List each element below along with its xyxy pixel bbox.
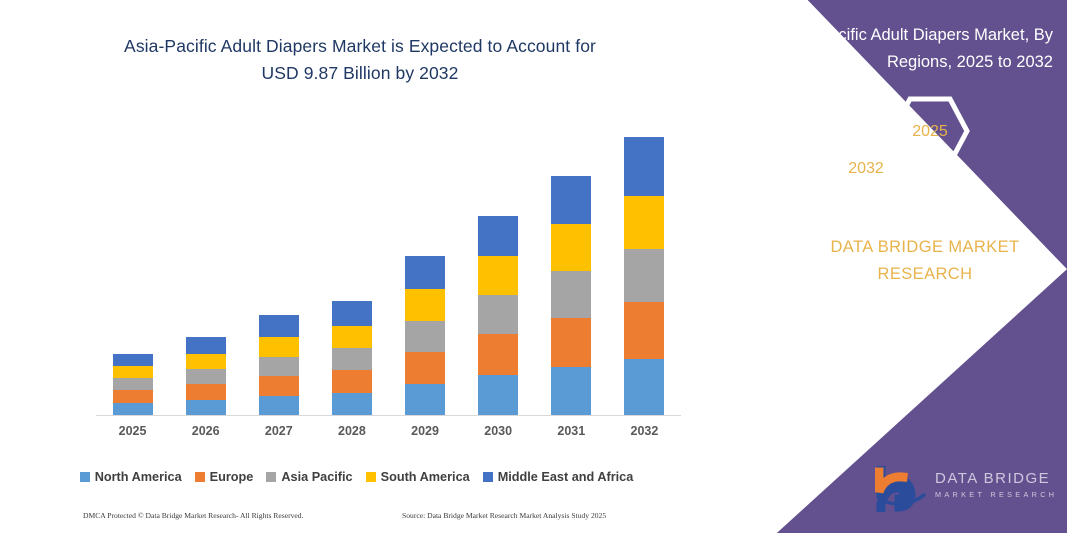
infographic-canvas: Asia-Pacific Adult Diapers Market is Exp…	[0, 0, 1067, 533]
legend-item-europe[interactable]: Europe	[195, 470, 254, 484]
x-axis-labels: 20252026202720282029203020312032	[96, 424, 681, 444]
x-label-2030: 2030	[463, 424, 533, 438]
legend-label: Asia Pacific	[281, 470, 352, 484]
brand-line1: DATA BRIDGE MARKET	[830, 238, 1019, 256]
x-label-2026: 2026	[171, 424, 241, 438]
logo-main-text: DATA BRIDGE	[935, 470, 1057, 487]
bar-segment-south-america[interactable]	[186, 354, 226, 369]
legend-item-south-america[interactable]: South America	[366, 470, 470, 484]
brand-name: DATA BRIDGE MARKET RESEARCH	[790, 234, 1060, 288]
bar-segment-south-america[interactable]	[551, 224, 591, 271]
panel-title-line2: Regions, 2025 to 2032	[887, 53, 1053, 71]
plot-area	[96, 110, 681, 416]
x-label-2029: 2029	[390, 424, 460, 438]
bar-segment-south-america[interactable]	[478, 256, 518, 295]
logo-text: DATA BRIDGE MARKET RESEARCH	[935, 470, 1057, 499]
bar-2026[interactable]	[186, 337, 226, 416]
legend-swatch-icon	[80, 472, 90, 482]
bar-segment-north-america[interactable]	[551, 367, 591, 416]
bar-segment-middle-east-and-africa[interactable]	[551, 176, 591, 224]
bar-segment-asia-pacific[interactable]	[332, 348, 372, 370]
bar-segment-europe[interactable]	[405, 352, 445, 384]
bar-2030[interactable]	[478, 216, 518, 416]
axis-baseline	[96, 415, 681, 416]
bar-segment-north-america[interactable]	[259, 396, 299, 416]
bar-segment-south-america[interactable]	[405, 289, 445, 321]
bar-segment-europe[interactable]	[551, 318, 591, 367]
bar-segment-middle-east-and-africa[interactable]	[259, 315, 299, 337]
legend-swatch-icon	[483, 472, 493, 482]
bar-segment-south-america[interactable]	[259, 337, 299, 357]
bar-segment-middle-east-and-africa[interactable]	[624, 137, 664, 196]
chart-panel: Asia-Pacific Adult Diapers Market is Exp…	[0, 0, 713, 533]
chart-title-line2: USD 9.87 Billion by 2032	[40, 60, 680, 87]
company-logo: DATA BRIDGE MARKET RESEARCH	[875, 466, 1060, 514]
bar-segment-north-america[interactable]	[186, 400, 226, 416]
bar-segment-asia-pacific[interactable]	[186, 369, 226, 384]
footer-source: Source: Data Bridge Market Research Mark…	[402, 511, 606, 520]
legend-label: Europe	[210, 470, 254, 484]
bar-segment-europe[interactable]	[113, 390, 153, 403]
brand-line2: RESEARCH	[878, 265, 973, 283]
bar-segment-asia-pacific[interactable]	[405, 321, 445, 352]
bar-2025[interactable]	[113, 354, 153, 416]
x-label-2027: 2027	[244, 424, 314, 438]
bar-segment-south-america[interactable]	[332, 326, 372, 348]
x-label-2031: 2031	[536, 424, 606, 438]
legend-label: North America	[95, 470, 182, 484]
bar-segment-europe[interactable]	[332, 370, 372, 393]
bar-segment-south-america[interactable]	[113, 366, 153, 378]
hexagon-group: 2032 2025	[818, 96, 998, 211]
legend-item-asia-pacific[interactable]: Asia Pacific	[266, 470, 352, 484]
bridge-logo-icon	[875, 466, 931, 512]
x-label-2025: 2025	[98, 424, 168, 438]
hexagon-2032-label: 2032	[818, 160, 914, 178]
footer-copyright: DMCA Protected © Data Bridge Market Rese…	[83, 511, 303, 520]
bar-2032[interactable]	[624, 137, 664, 416]
bar-segment-middle-east-and-africa[interactable]	[478, 216, 518, 256]
bar-segment-north-america[interactable]	[478, 375, 518, 416]
bar-segment-north-america[interactable]	[624, 359, 664, 416]
bar-segment-middle-east-and-africa[interactable]	[113, 354, 153, 366]
chart-legend: North AmericaEuropeAsia PacificSouth Ame…	[0, 470, 713, 484]
bar-2029[interactable]	[405, 256, 445, 416]
bar-segment-middle-east-and-africa[interactable]	[332, 301, 372, 326]
panel-title-line1: Asia-Pacific Adult Diapers Market, By	[781, 26, 1053, 44]
panel-title: Asia-Pacific Adult Diapers Market, By Re…	[728, 22, 1053, 76]
bar-segment-asia-pacific[interactable]	[259, 357, 299, 376]
chart-title: Asia-Pacific Adult Diapers Market is Exp…	[40, 33, 680, 87]
bar-segment-north-america[interactable]	[405, 384, 445, 416]
bar-segment-middle-east-and-africa[interactable]	[405, 256, 445, 289]
bar-segment-north-america[interactable]	[332, 393, 372, 416]
legend-item-middle-east-and-africa[interactable]: Middle East and Africa	[483, 470, 634, 484]
legend-swatch-icon	[266, 472, 276, 482]
legend-item-north-america[interactable]: North America	[80, 470, 182, 484]
bar-segment-south-america[interactable]	[624, 196, 664, 249]
bar-segment-asia-pacific[interactable]	[551, 271, 591, 318]
chart-title-line1: Asia-Pacific Adult Diapers Market is Exp…	[124, 36, 596, 56]
legend-label: South America	[381, 470, 470, 484]
legend-swatch-icon	[366, 472, 376, 482]
bar-segment-europe[interactable]	[478, 334, 518, 375]
bar-2027[interactable]	[259, 315, 299, 416]
bar-2031[interactable]	[551, 176, 591, 416]
bar-segment-asia-pacific[interactable]	[478, 295, 518, 334]
bar-segment-europe[interactable]	[624, 302, 664, 359]
bar-2028[interactable]	[332, 301, 372, 416]
x-label-2028: 2028	[317, 424, 387, 438]
footer: DMCA Protected © Data Bridge Market Rese…	[0, 508, 713, 526]
hexagon-2025-label: 2025	[890, 123, 970, 141]
bar-segment-middle-east-and-africa[interactable]	[186, 337, 226, 354]
bar-segment-europe[interactable]	[259, 376, 299, 396]
logo-sub-text: MARKET RESEARCH	[935, 490, 1057, 499]
legend-label: Middle East and Africa	[498, 470, 634, 484]
x-label-2032: 2032	[609, 424, 679, 438]
legend-swatch-icon	[195, 472, 205, 482]
bar-segment-asia-pacific[interactable]	[624, 249, 664, 302]
bar-segment-asia-pacific[interactable]	[113, 378, 153, 390]
bar-segment-europe[interactable]	[186, 384, 226, 400]
